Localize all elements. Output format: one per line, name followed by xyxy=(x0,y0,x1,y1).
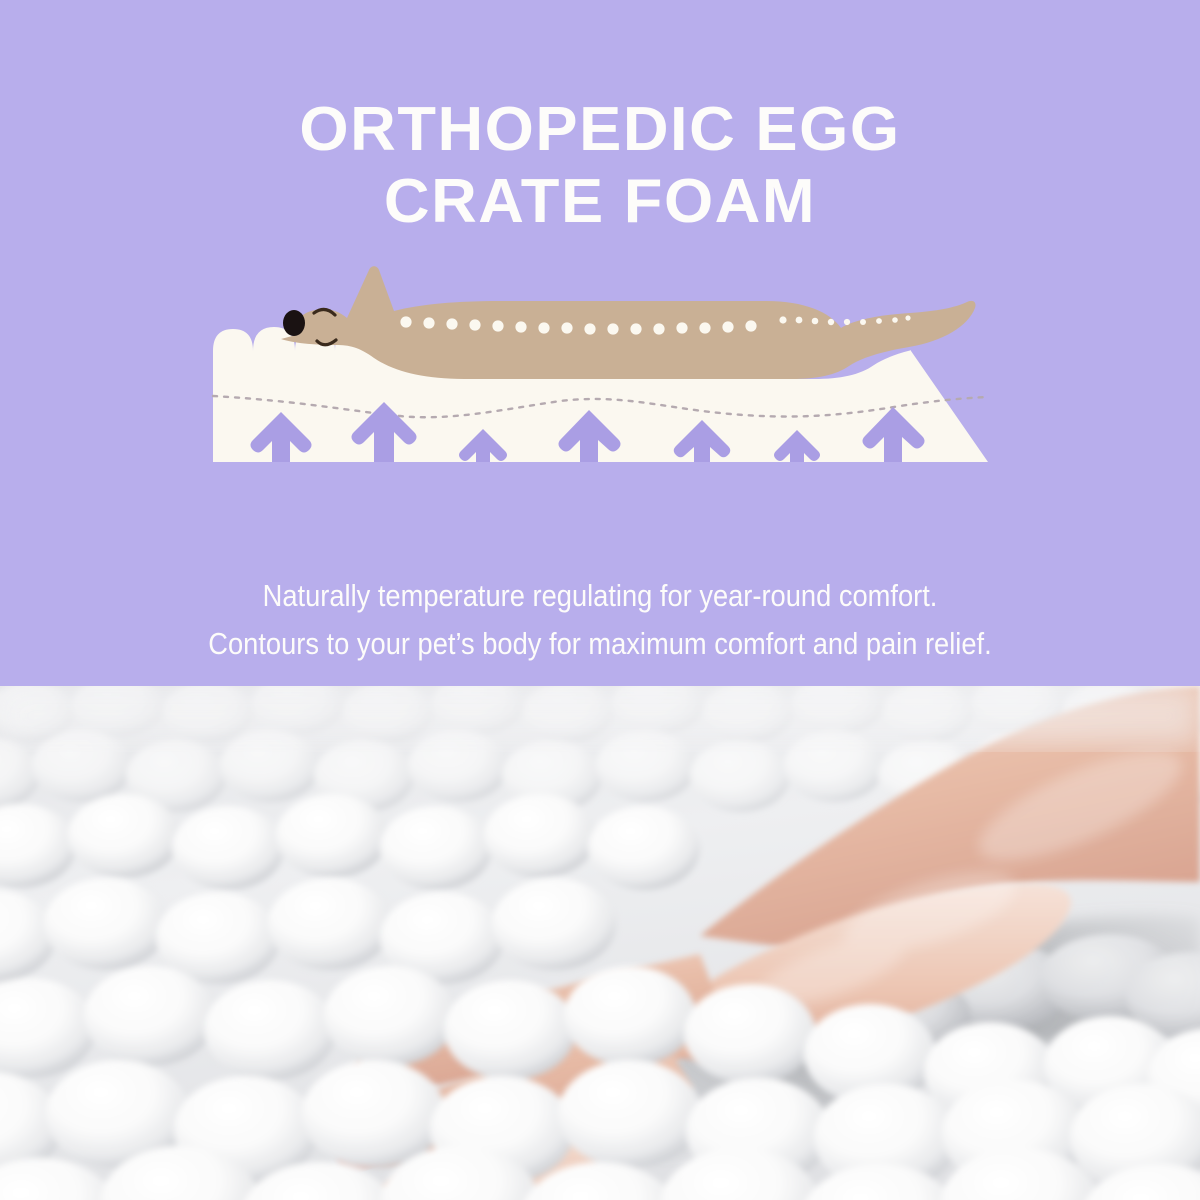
feature-description: Naturally temperature regulating for yea… xyxy=(72,572,1128,668)
foam-photo-panel xyxy=(0,686,1200,1200)
feature-line-2: Contours to your pet’s body for maximum … xyxy=(72,620,1128,668)
product-feature-graphic: ORTHOPEDIC EGG CRATE FOAM xyxy=(0,0,1200,1200)
headline-line-1: ORTHOPEDIC EGG xyxy=(0,94,1200,166)
feature-line-1: Naturally temperature regulating for yea… xyxy=(72,572,1128,620)
dog-on-foam-illustration xyxy=(0,210,1200,500)
hand-pressing-foam-photo xyxy=(0,686,1200,1200)
dog-nose-icon xyxy=(283,310,305,336)
hero-panel: ORTHOPEDIC EGG CRATE FOAM xyxy=(0,0,1200,686)
